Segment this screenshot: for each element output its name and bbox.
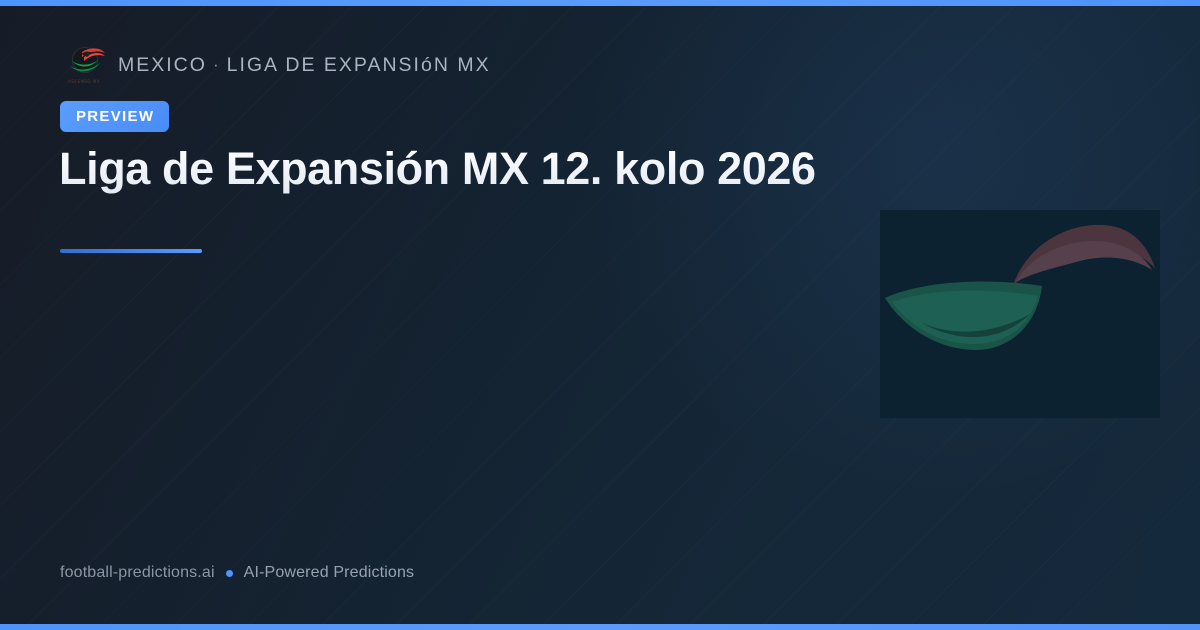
league-crest-watermark <box>880 210 1160 418</box>
bottom-accent-bar <box>0 624 1200 630</box>
svg-text:ASCENSO MX: ASCENSO MX <box>68 79 100 84</box>
status-badge: PREVIEW <box>60 101 169 132</box>
breadcrumb-competition: LIGA DE EXPANSIóN MX <box>227 54 491 76</box>
top-accent-bar <box>0 0 1200 6</box>
title-underline-rule <box>60 249 202 253</box>
breadcrumb-text: MEXICO·LIGA DE EXPANSIóN MX <box>118 54 491 77</box>
footer-site: football-predictions.ai <box>60 564 215 582</box>
footer: football-predictions.ai AI-Powered Predi… <box>60 564 414 582</box>
footer-tagline: AI-Powered Predictions <box>244 564 415 582</box>
mexico-liga-expansion-crest-icon: ASCENSO MX <box>60 44 108 86</box>
og-preview-card: ASCENSO MX MEXICO·LIGA DE EXPANSIóN MX P… <box>0 0 1200 630</box>
bullet-dot-icon <box>226 570 233 577</box>
breadcrumb: ASCENSO MX MEXICO·LIGA DE EXPANSIóN MX <box>60 44 491 86</box>
breadcrumb-separator: · <box>207 55 227 74</box>
breadcrumb-country: MEXICO <box>118 54 207 76</box>
page-title: Liga de Expansión MX 12. kolo 2026 <box>59 143 919 195</box>
